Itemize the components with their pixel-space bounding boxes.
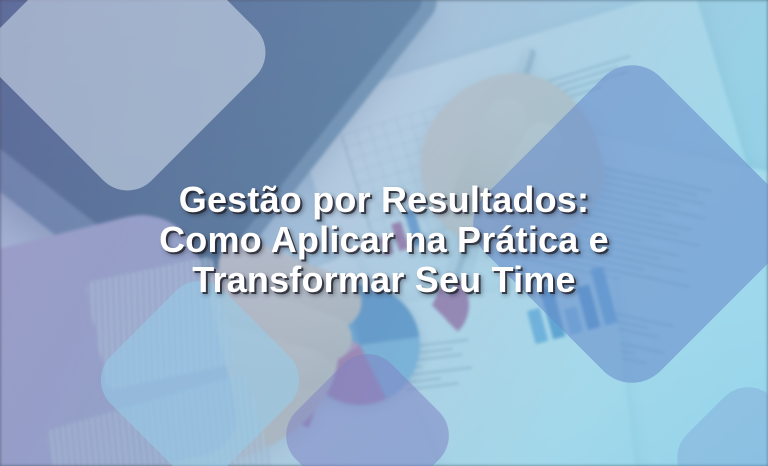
banner-title: Gestão por Resultados: Como Aplicar na P… (0, 0, 768, 466)
title-line-3: Transformar Seu Time (192, 260, 575, 300)
title-line-1: Gestão por Resultados: (179, 180, 589, 220)
hero-banner: Gestão por Resultados: Como Aplicar na P… (0, 0, 768, 466)
title-line-2: Como Aplicar na Prática e (159, 220, 609, 260)
